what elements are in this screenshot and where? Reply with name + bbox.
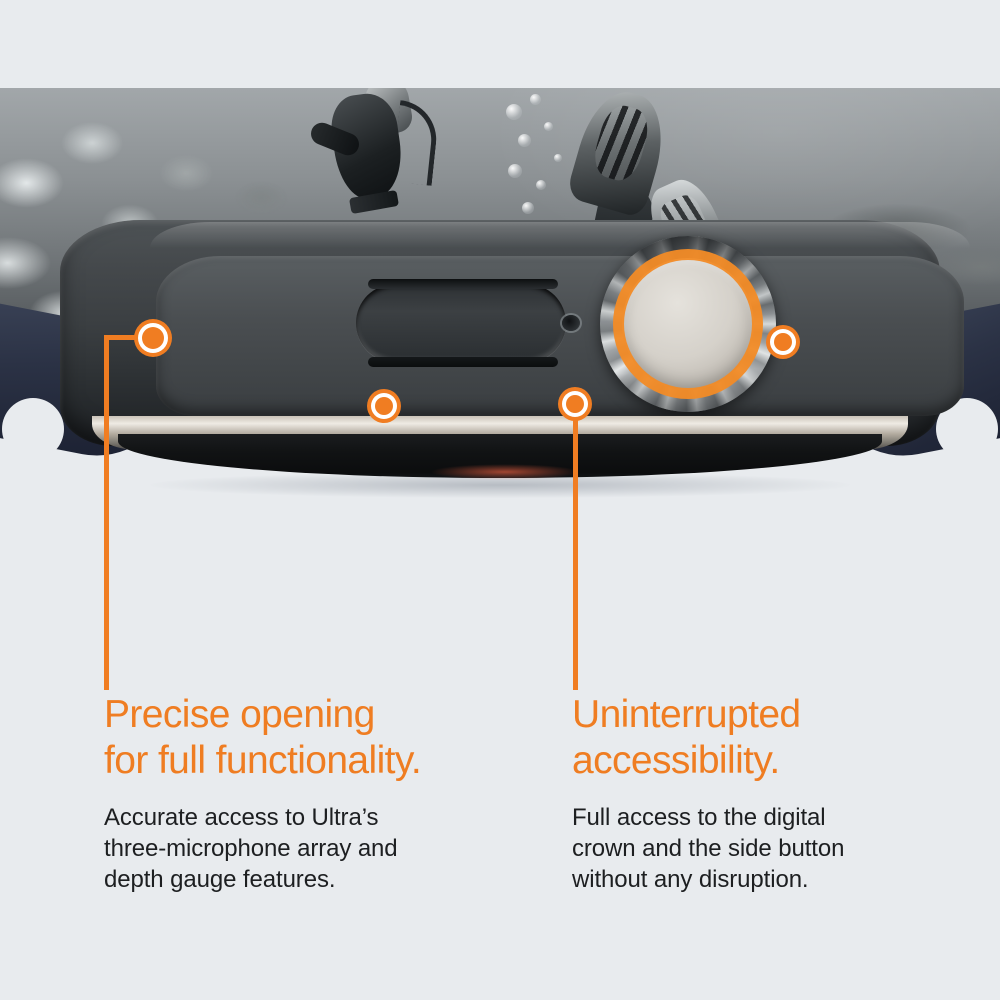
regulator-hose	[392, 100, 440, 186]
feature-headline: Uninterrupted accessibility.	[572, 692, 972, 784]
feature-body: Accurate access to Ultra’s three-microph…	[104, 802, 534, 895]
digital-crown-marker[interactable]	[566, 395, 584, 413]
feature-block-accessibility: Uninterrupted accessibility. Full access…	[572, 692, 972, 895]
band-hole-left	[2, 398, 64, 460]
product-shadow	[150, 472, 850, 498]
case-top-highlight	[150, 222, 970, 248]
apple-watch-ultra-case	[0, 220, 1000, 520]
crown-highlight-ring	[613, 249, 763, 399]
feature-block-microphone: Precise opening for full functionality. …	[104, 692, 534, 895]
leader-line-crown-vertical	[573, 404, 578, 690]
side-button-marker[interactable]	[774, 333, 792, 351]
feature-body: Full access to the digital crown and the…	[572, 802, 972, 895]
leader-line-microphone-vertical	[104, 335, 109, 690]
microphone-pinhole	[562, 315, 580, 331]
protective-case-body	[60, 220, 940, 446]
speaker-opening	[356, 284, 566, 362]
product-feature-page: Precise opening for full functionality. …	[0, 0, 1000, 1000]
speaker-opening-marker[interactable]	[375, 397, 393, 415]
microphone-opening-marker[interactable]	[142, 327, 164, 349]
digital-crown	[588, 230, 788, 420]
feature-headline: Precise opening for full functionality.	[104, 692, 534, 784]
